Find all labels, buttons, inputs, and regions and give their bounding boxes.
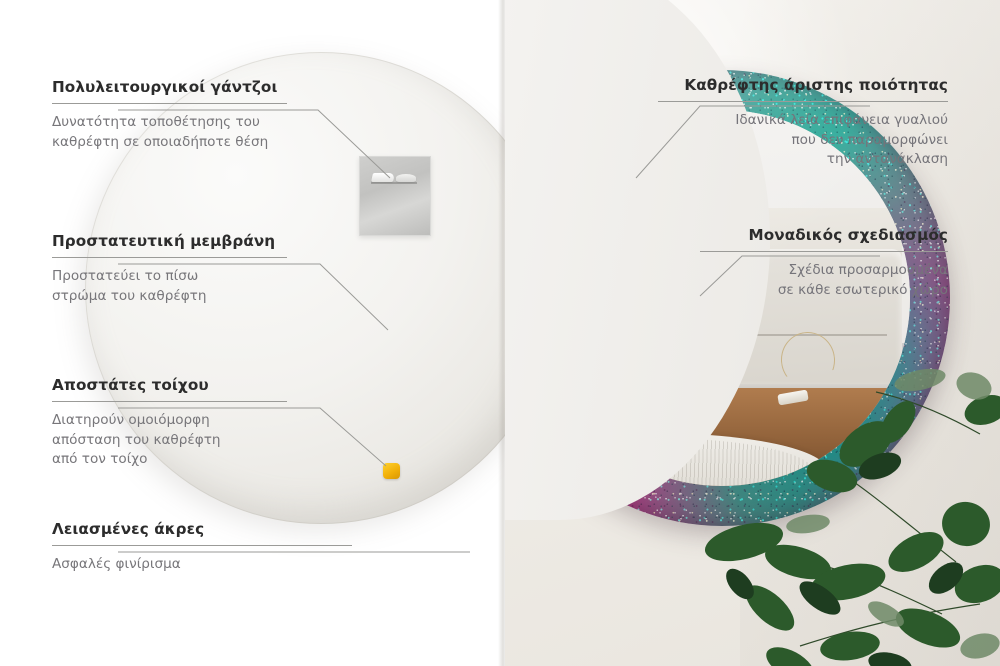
panel-divider (498, 0, 505, 666)
feature-desc: Δυνατότητα τοποθέτησης του καθρέφτη σε ο… (52, 113, 287, 152)
hook-left-icon (371, 173, 395, 182)
feature-block-hooks: Πολυλειτουργικοί γάντζοι Δυνατότητα τοπο… (52, 78, 287, 152)
wall-spacer-detail (383, 463, 400, 479)
feature-block-quality-mirror: Καθρέφτης άριστης ποιότητας Ιδανικά λεία… (658, 76, 948, 169)
feature-desc: Ιδανικά λεία επιφάνεια γυαλιού που δεν π… (658, 111, 948, 169)
feature-desc: Σχέδια προσαρμοσμένα σε κάθε εσωτερικό χ… (700, 261, 948, 300)
feature-rule (700, 251, 948, 252)
feature-block-edges: Λειασμένες άκρες Ασφαλές φινίρισμα (52, 520, 352, 575)
green-leaves-foreground (680, 346, 1000, 666)
feature-rule (52, 401, 287, 402)
feature-title: Αποστάτες τοίχου (52, 376, 287, 394)
hook-mounting-bar (371, 182, 417, 184)
feature-block-spacers: Αποστάτες τοίχου Διατηρούν ομοιόμορφη απ… (52, 376, 287, 469)
feature-title: Καθρέφτης άριστης ποιότητας (658, 76, 948, 94)
hook-bracket-detail (359, 156, 431, 236)
feature-rule (52, 103, 287, 104)
feature-rule (658, 101, 948, 102)
feature-block-membrane: Προστατευτική μεμβράνη Προστατεύει το πί… (52, 232, 287, 306)
feature-block-unique-design: Μοναδικός σχεδιασμός Σχέδια προσαρμοσμέν… (700, 226, 948, 300)
feature-title: Μοναδικός σχεδιασμός (700, 226, 948, 244)
feature-desc: Διατηρούν ομοιόμορφη απόσταση του καθρέφ… (52, 411, 287, 469)
feature-rule (52, 257, 287, 258)
feature-title: Προστατευτική μεμβράνη (52, 232, 287, 250)
feature-title: Πολυλειτουργικοί γάντζοι (52, 78, 287, 96)
infographic-canvas: Πολυλειτουργικοί γάντζοι Δυνατότητα τοπο… (0, 0, 1000, 666)
feature-rule (52, 545, 352, 546)
feature-desc: Ασφαλές φινίρισμα (52, 555, 352, 574)
feature-desc: Προστατεύει το πίσω στρώμα του καθρέφτη (52, 267, 287, 306)
hook-right-icon (396, 174, 416, 182)
feature-title: Λειασμένες άκρες (52, 520, 352, 538)
